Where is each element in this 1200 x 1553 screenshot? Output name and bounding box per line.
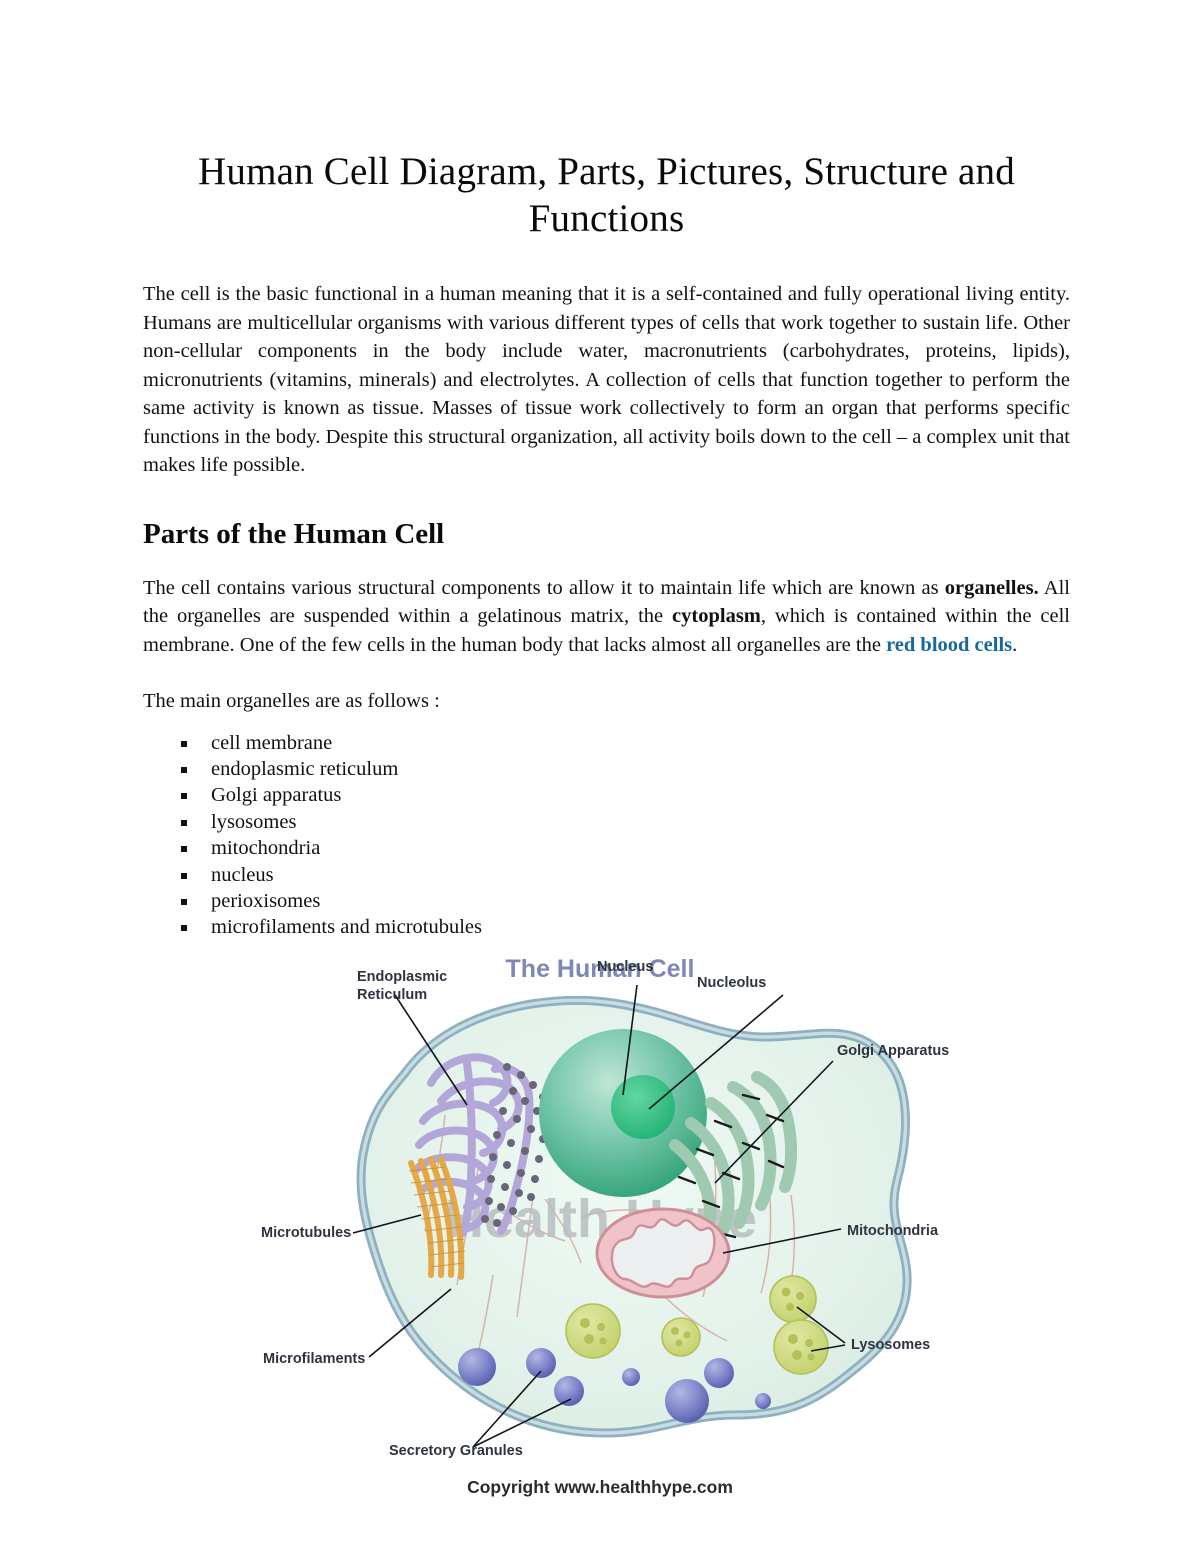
list-item-label: cell membrane xyxy=(211,732,332,754)
label-nucleolus: Nucleolus xyxy=(697,975,766,991)
label-lysosomes: Lysosomes xyxy=(851,1337,930,1353)
label-secretory-granules: Secretory Granules xyxy=(389,1443,523,1459)
list-item-label: mitochondria xyxy=(211,837,320,859)
list-item-label: nucleus xyxy=(211,864,274,886)
label-nucleus: Nucleus xyxy=(597,959,653,975)
parts-paragraph: The cell contains various structural com… xyxy=(143,551,1070,660)
organelle-list: cell membrane endoplasmic reticulum Golg… xyxy=(143,716,1070,941)
list-item: Golgi apparatus xyxy=(143,782,1070,808)
nucleus xyxy=(539,1029,707,1197)
cytoplasm-bold: cytoplasm xyxy=(672,605,761,627)
list-item-label: endoplasmic reticulum xyxy=(211,758,398,780)
list-item-label: microfilaments and microtubules xyxy=(211,916,482,938)
list-item-label: lysosomes xyxy=(211,811,296,833)
list-item: perioxisomes xyxy=(143,888,1070,914)
label-microfilaments: Microfilaments xyxy=(263,1351,365,1367)
organelles-bold: organelles. xyxy=(945,577,1039,599)
intro-paragraph: The cell is the basic functional in a hu… xyxy=(143,242,1070,480)
section-heading: Parts of the Human Cell xyxy=(143,480,1070,551)
label-endoplasmic-reticulum: Endoplasmic xyxy=(357,969,447,985)
nucleolus xyxy=(611,1075,675,1139)
list-intro: The main organelles are as follows : xyxy=(143,659,1070,716)
list-item: mitochondria xyxy=(143,835,1070,861)
list-item: microfilaments and microtubules xyxy=(143,914,1070,940)
document-content: Human Cell Diagram, Parts, Pictures, Str… xyxy=(143,0,1070,941)
list-item: endoplasmic reticulum xyxy=(143,756,1070,782)
label-microtubules: Microtubules xyxy=(261,1225,351,1241)
label-golgi-apparatus: Golgi Apparatus xyxy=(837,1043,949,1059)
label-mitochondria: Mitochondria xyxy=(847,1223,939,1239)
document-page: Human Cell Diagram, Parts, Pictures, Str… xyxy=(0,0,1200,1553)
parts-text-4: . xyxy=(1012,634,1017,656)
parts-text-1: The cell contains various structural com… xyxy=(143,577,945,599)
list-item-label: Golgi apparatus xyxy=(211,784,341,806)
mitochondrion xyxy=(597,1209,729,1297)
list-item-label: perioxisomes xyxy=(211,890,320,912)
page-title: Human Cell Diagram, Parts, Pictures, Str… xyxy=(143,0,1070,242)
human-cell-diagram: The Human Cell Health Hype xyxy=(245,945,955,1505)
list-item: nucleus xyxy=(143,862,1070,888)
copyright-text: Copyright www.healthhype.com xyxy=(467,1477,733,1497)
red-blood-cells-link[interactable]: red blood cells xyxy=(886,634,1012,656)
list-item: cell membrane xyxy=(143,730,1070,756)
label-endoplasmic-reticulum-line2: Reticulum xyxy=(357,987,427,1003)
list-item: lysosomes xyxy=(143,809,1070,835)
